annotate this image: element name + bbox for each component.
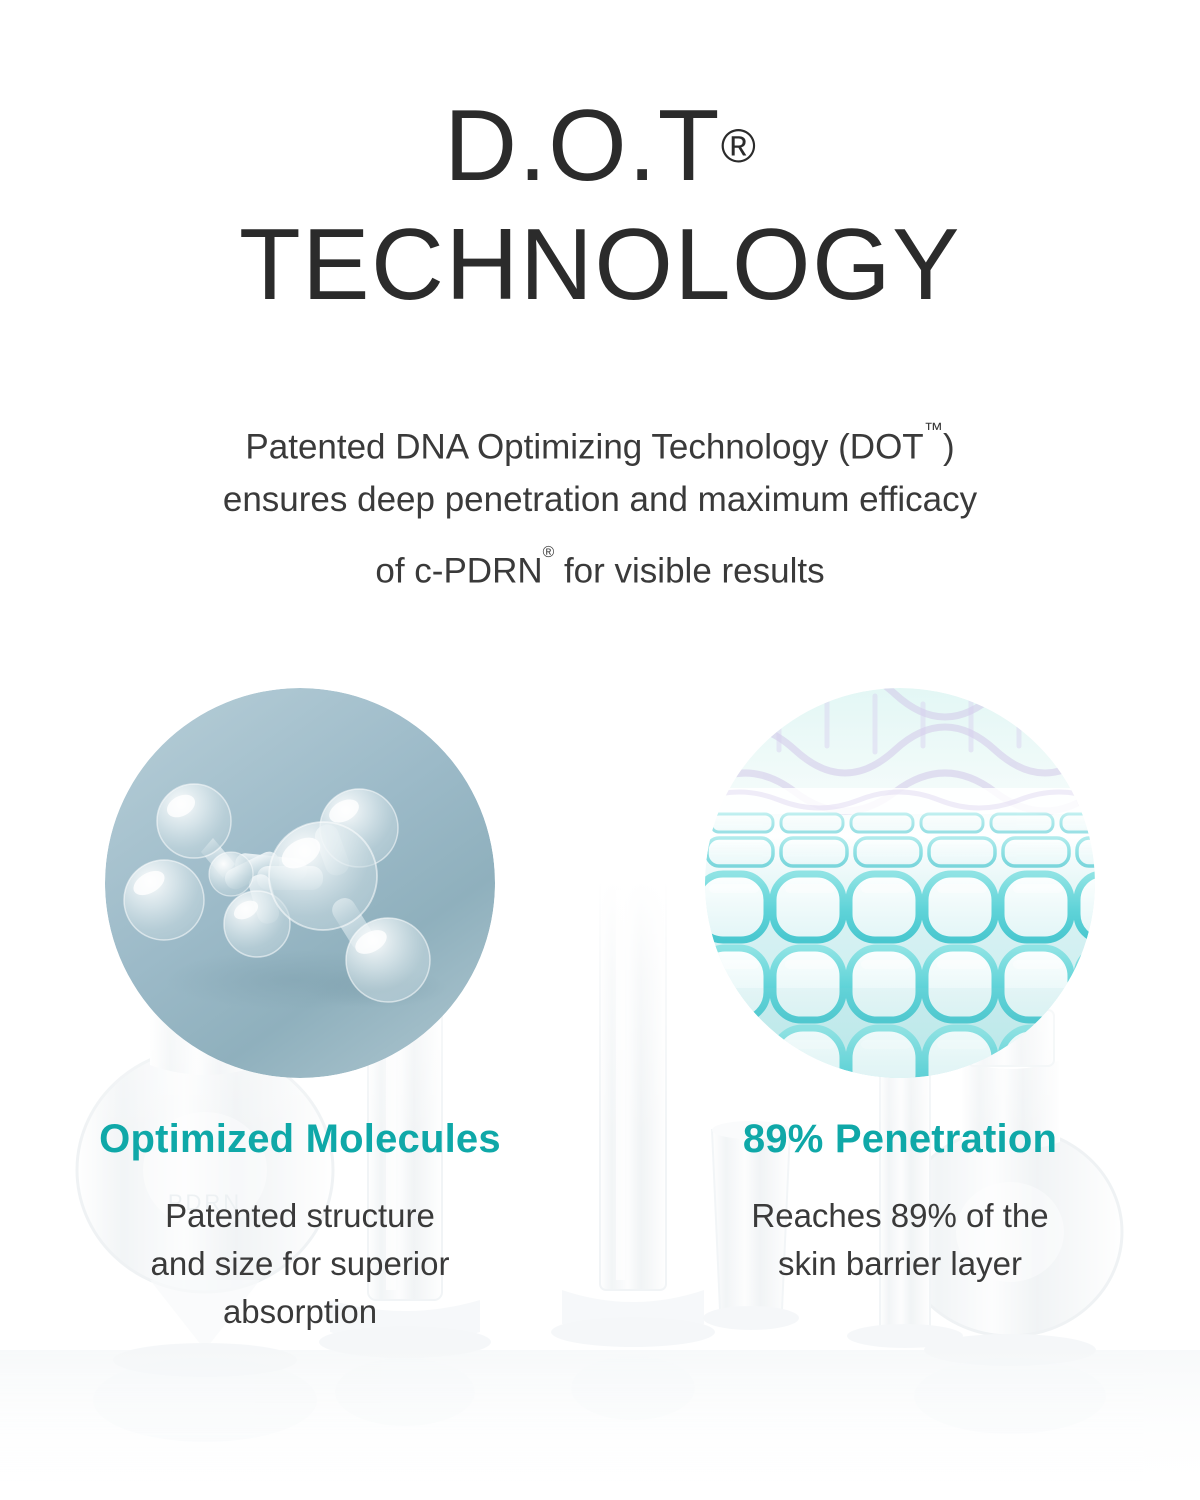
page-title-line-2: TECHNOLOGY (0, 215, 1200, 316)
feature-desc-line: absorption (151, 1288, 450, 1336)
feature-desc-line: Reaches 89% of the (751, 1192, 1048, 1240)
registered-trademark-icon: ® (721, 120, 756, 173)
feature-list: Optimized Molecules Patented structure a… (0, 688, 1200, 1336)
page-title-brand: D.O.T (444, 90, 721, 202)
page-subtitle: Patented DNA Optimizing Technology (DOT™… (0, 404, 1200, 598)
feature-desc-line: skin barrier layer (751, 1240, 1048, 1288)
optimized-molecules-image (105, 688, 495, 1078)
skin-penetration-image (705, 688, 1095, 1078)
subtitle-line-1-text: Patented DNA Optimizing Technology (DOT (245, 427, 923, 466)
trademark-icon: ™ (924, 420, 943, 441)
feature-penetration: 89% Penetration Reaches 89% of the skin … (600, 688, 1200, 1336)
feature-title-penetration: 89% Penetration (743, 1116, 1057, 1162)
subtitle-line-3-text: of c-PDRN (375, 552, 542, 591)
feature-title-optimized-molecules: Optimized Molecules (99, 1116, 501, 1162)
registered-trademark-small-icon: ® (543, 544, 555, 561)
feature-optimized-molecules: Optimized Molecules Patented structure a… (0, 688, 600, 1336)
subtitle-line-1-close: ) (943, 427, 955, 466)
feature-desc-line: Patented structure (151, 1192, 450, 1240)
subtitle-line-3: of c-PDRN® for visible results (0, 526, 1200, 597)
subtitle-line-1: Patented DNA Optimizing Technology (DOT™… (0, 404, 1200, 473)
page-title-line-1: D.O.T® (0, 96, 1200, 197)
subtitle-line-3-tail: for visible results (554, 552, 824, 591)
page-title: D.O.T® TECHNOLOGY (0, 96, 1200, 316)
feature-desc-line: and size for superior (151, 1240, 450, 1288)
feature-description-optimized-molecules: Patented structure and size for superior… (151, 1192, 450, 1336)
feature-description-penetration: Reaches 89% of the skin barrier layer (751, 1192, 1048, 1288)
subtitle-line-2: ensures deep penetration and maximum eff… (0, 473, 1200, 526)
